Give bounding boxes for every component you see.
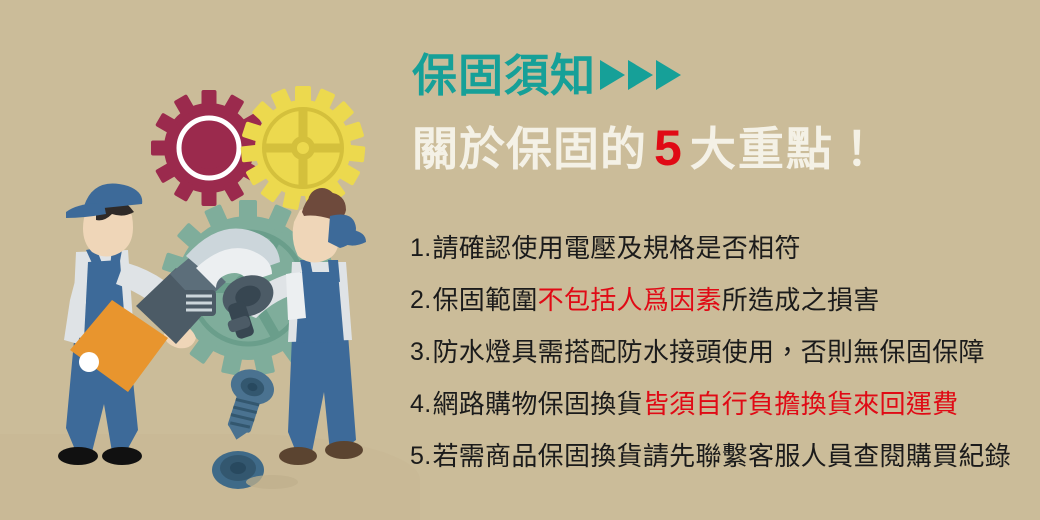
list-item: 1.請確認使用電壓及規格是否相符 [410, 222, 1040, 274]
subtitle: 關於保固的5大重點！ [412, 123, 882, 173]
list-item-text: 保固範圍 [432, 287, 537, 313]
subtitle-suffix: 大重點！ [690, 123, 882, 175]
warranty-points-list: 1.請確認使用電壓及規格是否相符2.保固範圍不包括人爲因素所造成之損害3.防水燈… [410, 222, 1040, 482]
list-item-index: 3. [410, 340, 432, 365]
list-item-index: 2. [410, 288, 432, 313]
warranty-poster: 保固須知 關於保固的5大重點！ 1.請確認使用電壓及規格是否相符2.保固範圍不包… [0, 0, 1040, 520]
gear-yellow [241, 86, 366, 210]
list-item-text: 所造成之損害 [722, 287, 880, 313]
headline-row: 保固須知 [412, 46, 681, 104]
arrow-group [600, 60, 681, 90]
triangle-right-icon [600, 60, 625, 90]
list-item-index: 1. [410, 236, 432, 261]
subtitle-number: 5 [647, 120, 690, 176]
list-item-text: 若需商品保固換貨請先聯繫客服人員查閱購買紀錄 [432, 443, 1011, 469]
list-item: 4.網路購物保固換貨皆須自行負擔換貨來回運費 [410, 378, 1040, 430]
subtitle-prefix: 關於保固的 [412, 123, 647, 175]
page-title: 保固須知 [412, 53, 596, 98]
list-item: 2.保固範圍不包括人爲因素所造成之損害 [410, 274, 1040, 326]
list-item: 5.若需商品保固換貨請先聯繫客服人員查閱購買紀錄 [410, 430, 1040, 482]
list-item-text: 網路購物保固換貨 [432, 391, 642, 417]
list-item: 3.防水燈具需搭配防水接頭使用，否則無保固保障 [410, 326, 1040, 378]
triangle-right-icon [656, 60, 681, 90]
list-item-text: 請確認使用電壓及規格是否相符 [432, 235, 800, 261]
content-column: 保固須知 關於保固的5大重點！ 1.請確認使用電壓及規格是否相符2.保固範圍不包… [406, 0, 1040, 520]
illustration-workers-gears [0, 0, 420, 520]
list-item-index: 5. [410, 444, 432, 469]
screw [215, 364, 279, 446]
list-item-highlight: 不包括人爲因素 [538, 287, 722, 313]
triangle-right-icon [628, 60, 653, 90]
list-item-text: 防水燈具需搭配防水接頭使用，否則無保固保障 [432, 339, 984, 365]
list-item-highlight: 皆須自行負擔換貨來回運費 [643, 391, 959, 417]
list-item-index: 4. [410, 392, 432, 417]
